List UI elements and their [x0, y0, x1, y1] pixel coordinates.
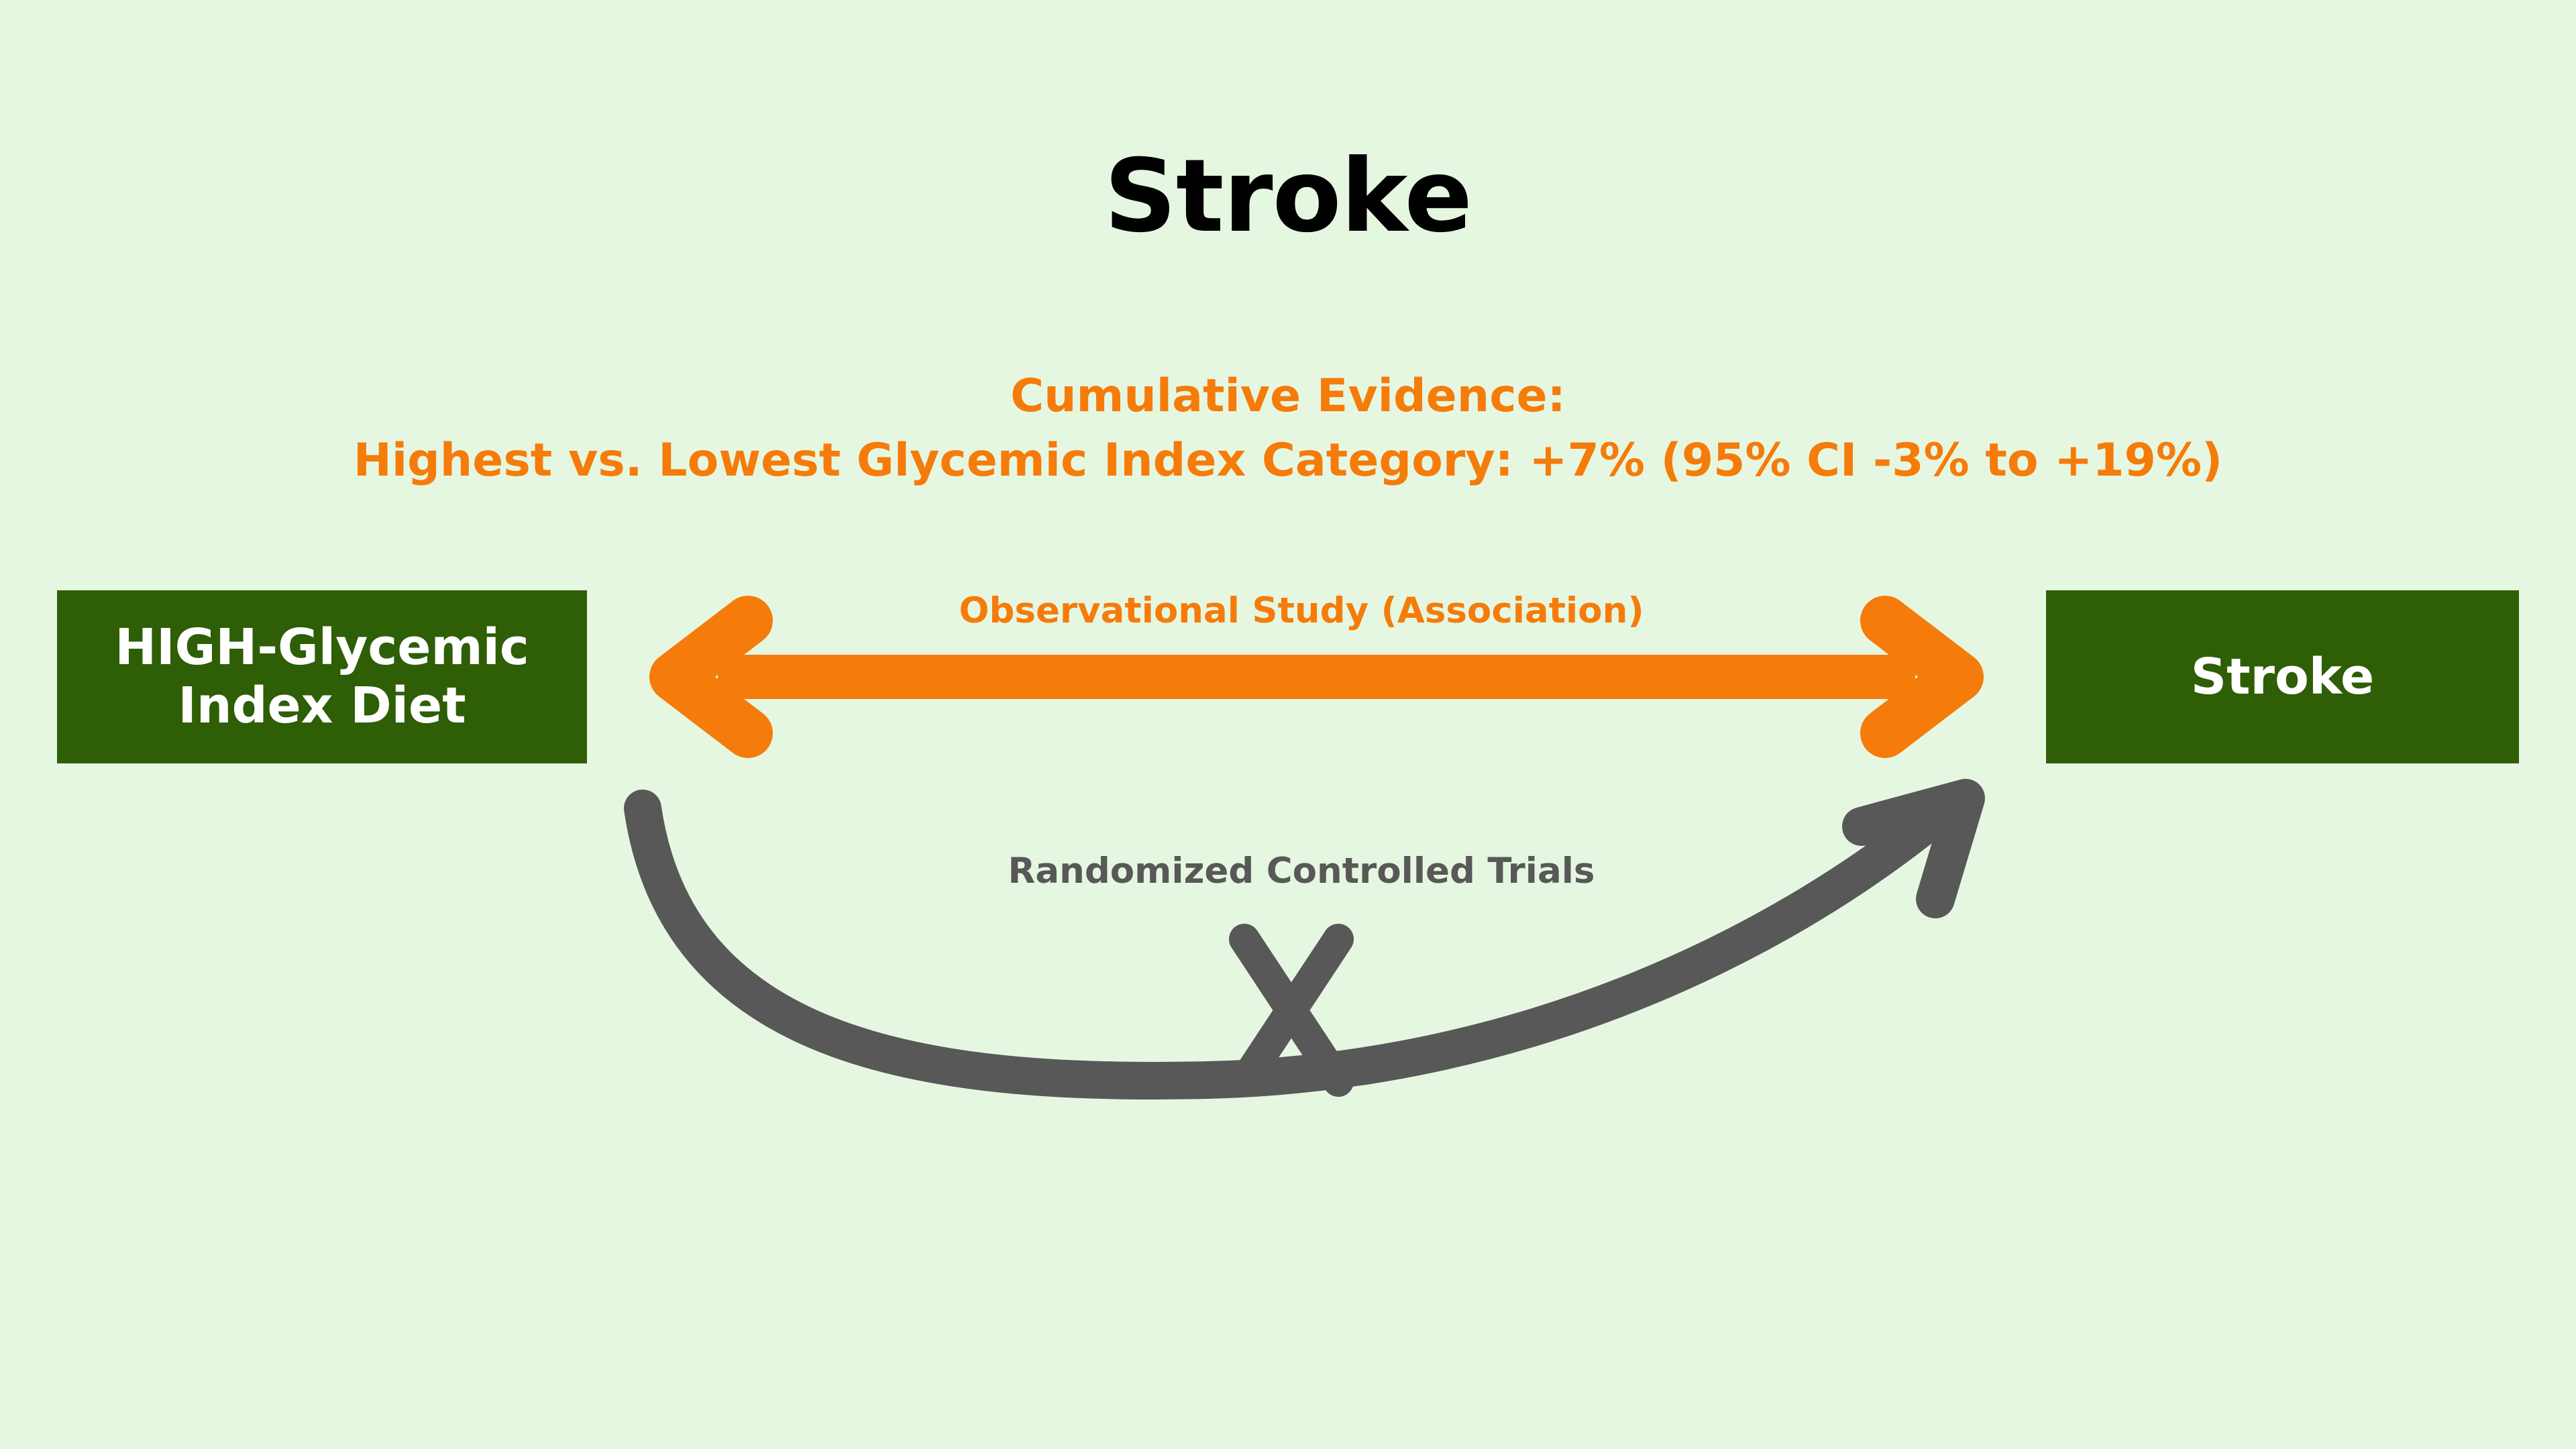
cumulative-evidence-heading: Cumulative Evidence: [0, 371, 2576, 422]
observational-arrow-head-right [1885, 621, 1959, 733]
cross-stroke-1 [1244, 939, 1338, 1081]
outcome-node-label: Stroke [2191, 648, 2374, 706]
rct-arrow [643, 798, 1966, 1081]
page-title: Stroke [0, 146, 2576, 247]
rct-arrow-label: Randomized Controlled Trials [792, 851, 1811, 892]
cumulative-evidence-detail: Highest vs. Lowest Glycemic Index Catego… [0, 435, 2576, 486]
exposure-node-label-line1: HIGH-Glycemic [115, 619, 529, 677]
no-effect-cross-icon [1244, 939, 1338, 1081]
cumulative-evidence-block: Cumulative Evidence: Highest vs. Lowest … [0, 371, 2576, 486]
exposure-node-box: HIGH-Glycemic Index Diet [57, 590, 587, 763]
rct-arrow-head [1862, 798, 1966, 899]
cross-stroke-2 [1244, 939, 1338, 1081]
exposure-node-label-line2: Index Diet [115, 677, 529, 735]
outcome-node-box: Stroke [2046, 590, 2519, 763]
observational-study-arrow [674, 621, 1959, 733]
rct-arrow-shaft [643, 804, 1951, 1081]
observational-arrow-head-left [674, 621, 748, 733]
diagram-canvas: Stroke Cumulative Evidence: Highest vs. … [0, 0, 2576, 1449]
exposure-node-label: HIGH-Glycemic Index Diet [115, 619, 529, 736]
observational-study-arrow-label: Observational Study (Association) [792, 590, 1811, 631]
